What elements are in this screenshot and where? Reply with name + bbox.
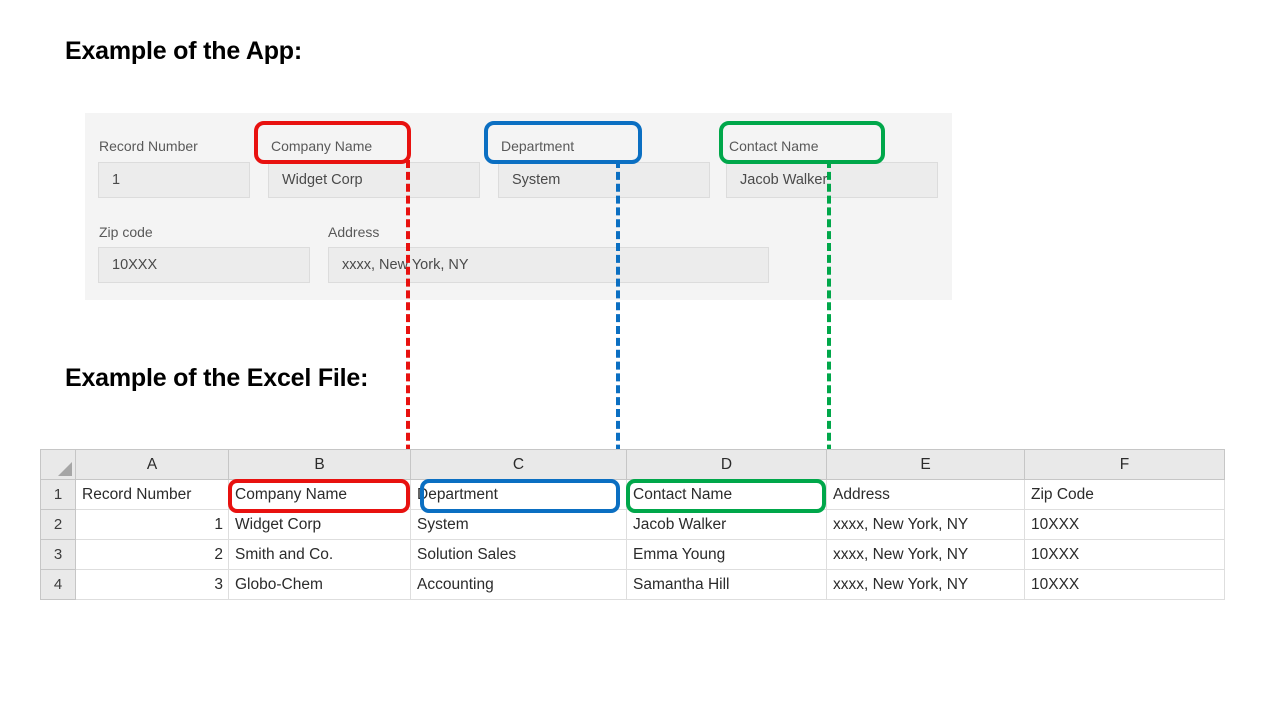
highlight-box-red-company-name	[254, 121, 411, 164]
cell-e4[interactable]: xxxx, New York, NY	[827, 570, 1025, 600]
field-label-record-number: Record Number	[99, 137, 198, 155]
cell-f2[interactable]: 10XXX	[1025, 510, 1225, 540]
cell-a3[interactable]: 2	[76, 540, 229, 570]
select-all-corner[interactable]	[41, 450, 76, 480]
highlight-box-green-contact-name	[719, 121, 885, 164]
cell-e2[interactable]: xxxx, New York, NY	[827, 510, 1025, 540]
input-contact-name[interactable]: Jacob Walker	[726, 162, 938, 198]
row-header-2[interactable]: 2	[41, 510, 76, 540]
column-header-f[interactable]: F	[1025, 450, 1225, 480]
cell-b3[interactable]: Smith and Co.	[229, 540, 411, 570]
cell-d4[interactable]: Samantha Hill	[627, 570, 827, 600]
cell-c2[interactable]: System	[411, 510, 627, 540]
field-label-address: Address	[328, 223, 379, 241]
cell-c3[interactable]: Solution Sales	[411, 540, 627, 570]
column-header-d[interactable]: D	[627, 450, 827, 480]
cell-b2[interactable]: Widget Corp	[229, 510, 411, 540]
cell-f3[interactable]: 10XXX	[1025, 540, 1225, 570]
cell-c1[interactable]: Department	[411, 480, 627, 510]
column-header-b[interactable]: B	[229, 450, 411, 480]
row-header-4[interactable]: 4	[41, 570, 76, 600]
column-header-row: A B C D E F	[41, 450, 1225, 480]
corner-triangle-icon	[58, 462, 72, 476]
cell-d3[interactable]: Emma Young	[627, 540, 827, 570]
highlight-box-blue-department	[484, 121, 642, 164]
cell-a2[interactable]: 1	[76, 510, 229, 540]
table-row: 1 Record Number Company Name Department …	[41, 480, 1225, 510]
column-header-c[interactable]: C	[411, 450, 627, 480]
input-company-name[interactable]: Widget Corp	[268, 162, 480, 198]
cell-e1[interactable]: Address	[827, 480, 1025, 510]
table-row: 3 2 Smith and Co. Solution Sales Emma Yo…	[41, 540, 1225, 570]
cell-a1[interactable]: Record Number	[76, 480, 229, 510]
input-address[interactable]: xxxx, New York, NY	[328, 247, 769, 283]
table-row: 2 1 Widget Corp System Jacob Walker xxxx…	[41, 510, 1225, 540]
cell-d1[interactable]: Contact Name	[627, 480, 827, 510]
app-example-heading: Example of the App:	[65, 35, 302, 67]
cell-f4[interactable]: 10XXX	[1025, 570, 1225, 600]
cell-c4[interactable]: Accounting	[411, 570, 627, 600]
field-label-zip-code: Zip code	[99, 223, 153, 241]
input-record-number[interactable]: 1	[98, 162, 250, 198]
column-header-a[interactable]: A	[76, 450, 229, 480]
input-department[interactable]: System	[498, 162, 710, 198]
spreadsheet[interactable]: A B C D E F 1 Record Number Company Name…	[40, 449, 1225, 600]
cell-a4[interactable]: 3	[76, 570, 229, 600]
table-row: 4 3 Globo-Chem Accounting Samantha Hill …	[41, 570, 1225, 600]
excel-example-heading: Example of the Excel File:	[65, 362, 395, 394]
cell-b4[interactable]: Globo-Chem	[229, 570, 411, 600]
row-header-1[interactable]: 1	[41, 480, 76, 510]
cell-f1[interactable]: Zip Code	[1025, 480, 1225, 510]
cell-d2[interactable]: Jacob Walker	[627, 510, 827, 540]
cell-e3[interactable]: xxxx, New York, NY	[827, 540, 1025, 570]
input-zip-code[interactable]: 10XXX	[98, 247, 310, 283]
cell-b1[interactable]: Company Name	[229, 480, 411, 510]
row-header-3[interactable]: 3	[41, 540, 76, 570]
column-header-e[interactable]: E	[827, 450, 1025, 480]
